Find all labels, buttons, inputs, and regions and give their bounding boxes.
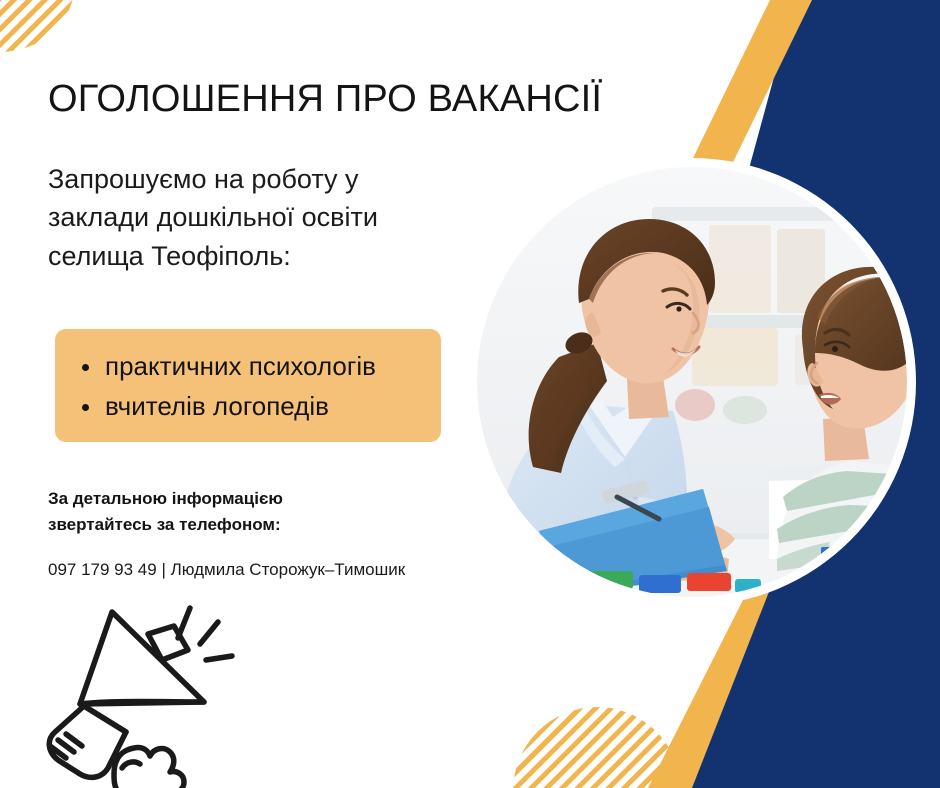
contact-label-line-1: За детальною інформацією: [48, 486, 388, 512]
megaphone-icon: [22, 582, 252, 788]
striped-half-circle-decoration: [513, 707, 681, 788]
intro-line-1: Запрошуємо на роботу у: [48, 160, 448, 198]
contact-label-line-2: звертайтесь за телефоном:: [48, 512, 388, 538]
contact-label: За детальною інформацією звертайтесь за …: [48, 486, 388, 539]
photo-illustration: [477, 167, 907, 597]
striped-quarter-circle-decoration: [0, 0, 74, 52]
roles-highlight-box: практичних психологів вчителів логопедів: [55, 329, 441, 442]
page-title: ОГОЛОШЕННЯ ПРО ВАКАНСІЇ: [48, 78, 602, 121]
role-item: вчителів логопедів: [79, 387, 441, 427]
intro-paragraph: Запрошуємо на роботу у заклади дошкільно…: [48, 160, 448, 275]
photo-teacher-and-child: [477, 167, 907, 597]
intro-line-3: селища Теофіполь:: [48, 237, 448, 275]
intro-line-2: заклади дошкільної освіти: [48, 198, 448, 236]
poster: ОГОЛОШЕННЯ ПРО ВАКАНСІЇ Запрошуємо на ро…: [0, 0, 940, 788]
photo-circle-frame: [477, 167, 907, 597]
contact-phone: 097 179 93 49 | Людмила Сторожук–Тимошик: [48, 560, 405, 580]
role-item: практичних психологів: [79, 347, 441, 387]
